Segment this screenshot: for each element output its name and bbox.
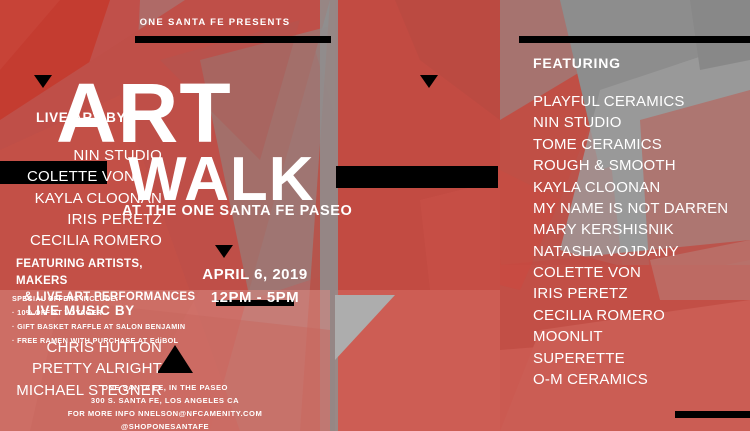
list-item: SUPERETTE: [533, 348, 728, 369]
triangle-up-icon-bottom: [157, 345, 193, 373]
list-item: PLAYFUL CERAMICS: [533, 91, 728, 112]
live-music-heading: LIVE MUSIC BY: [0, 303, 162, 318]
presenter-line: ONE SANTA FE PRESENTS: [0, 17, 430, 28]
list-item: KAYLA CLOONAN: [0, 188, 162, 209]
list-item: MY NAME IS NOT DARREN: [533, 198, 728, 219]
contact-block: FOR MORE INFO NNELSON@NFCAMENITY.COM @SH…: [40, 408, 290, 431]
list-item: MOONLIT: [533, 326, 728, 347]
poster-canvas: ONE SANTA FE PRESENTS ART WALK AT THE ON…: [0, 0, 750, 431]
live-art-heading: LIVE ART BY: [0, 110, 162, 125]
list-item: IRIS PERETZ: [533, 283, 728, 304]
list-item: COLETTE VON: [533, 262, 728, 283]
decor-bar-bottom-right: [675, 411, 750, 418]
featuring-makers-line-1: FEATURING ARTISTS, MAKERS: [16, 256, 196, 289]
list-item: PRETTY ALRIGHT: [0, 358, 162, 379]
list-item: O-M CERAMICS: [533, 369, 728, 390]
highlight-bar-colette-von: [336, 166, 498, 188]
event-date: APRIL 6, 2019: [176, 263, 334, 286]
list-item: NIN STUDIO: [0, 145, 162, 166]
featuring-heading: FEATURING: [533, 55, 621, 71]
decor-bar-top-left: [135, 36, 331, 43]
list-item: ROUGH & SMOOTH: [533, 155, 728, 176]
featuring-vendor-list: PLAYFUL CERAMICS NIN STUDIO TOME CERAMIC…: [533, 91, 728, 390]
live-music-list: CHRIS HUTTON PRETTY ALRIGHT MICHAEL STEG…: [0, 337, 162, 401]
list-item: MARY KERSHISNIK: [533, 219, 728, 240]
list-item: MICHAEL STEGNER: [0, 380, 162, 401]
list-item: NIN STUDIO: [533, 112, 728, 133]
decor-bar-top-right: [519, 36, 750, 43]
list-item: CECILIA ROMERO: [533, 305, 728, 326]
live-art-list: NIN STUDIO COLETTE VON KAYLA CLOONAN IRI…: [0, 145, 162, 251]
list-item: NATASHA VOJDANY: [533, 241, 728, 262]
triangle-down-icon-art: [34, 75, 52, 88]
special-offer-item: · GIFT BASKET RAFFLE AT SALON BENJAMIN: [12, 320, 222, 334]
list-item: CECILIA ROMERO: [0, 230, 162, 251]
contact-social-handle: @SHOPONESANTAFE: [40, 421, 290, 431]
event-time: 12PM - 5PM: [176, 286, 334, 309]
triangle-down-icon-mid: [420, 75, 438, 88]
list-item: IRIS PERETZ: [0, 209, 162, 230]
event-date-time-block: APRIL 6, 2019 12PM - 5PM: [176, 263, 334, 310]
contact-email-line: FOR MORE INFO NNELSON@NFCAMENITY.COM: [40, 408, 290, 421]
list-item: TOME CERAMICS: [533, 134, 728, 155]
list-item: KAYLA CLOONAN: [533, 177, 728, 198]
list-item: CHRIS HUTTON: [0, 337, 162, 358]
triangle-down-icon-date: [215, 245, 233, 258]
list-item-highlighted: COLETTE VON: [0, 166, 162, 187]
